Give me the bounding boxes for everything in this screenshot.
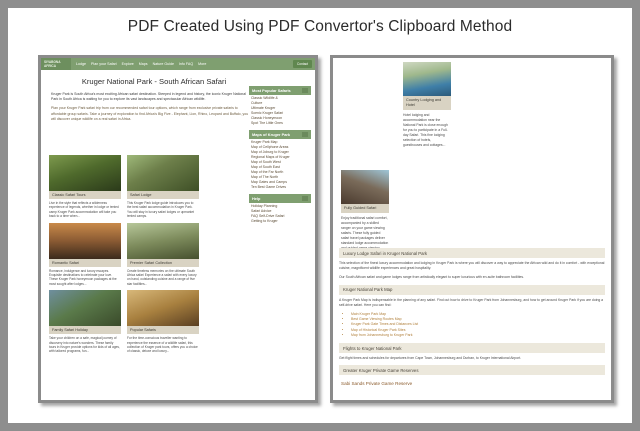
section-paragraph: Our South African safari and game lodges… xyxy=(339,275,605,280)
intro-paragraph-2: Plan your Kruger Park safari trip from o… xyxy=(51,106,251,122)
card-caption: Country Lodging and Hotel xyxy=(403,96,451,110)
left-page-body: Kruger National Park - South African Saf… xyxy=(41,70,315,400)
sidebar-group-header[interactable]: Most Popular Safaris xyxy=(249,86,311,95)
sidebar-group-list: Kruger Park Map Map of Cellphone Areas M… xyxy=(249,139,311,191)
screenshot-canvas: PDF Created Using PDF Convertor's Clipbo… xyxy=(0,0,640,431)
nav-item-lodge[interactable]: Lodge xyxy=(76,62,86,66)
card-caption: Safari Lodge xyxy=(127,191,199,199)
nav-item-more[interactable]: More xyxy=(198,62,206,66)
sidebar-item[interactable]: Ten Best Game Drives xyxy=(249,185,311,190)
section-paragraph: A Kruger Park Map is indispensable in th… xyxy=(339,298,605,308)
card-caption: Popular Safaris xyxy=(127,326,199,334)
card-caption: Romantic Safari xyxy=(49,259,121,267)
intro-paragraph-1: Kruger Park is South Africa's most excit… xyxy=(51,92,251,102)
sidebar-item[interactable]: Spot The Little Ones xyxy=(249,121,311,126)
card-thumbnail xyxy=(49,155,121,191)
card-caption: Family Safari Holiday xyxy=(49,326,121,334)
card-text: Take your children on a safe, magical jo… xyxy=(49,334,121,354)
card-thumbnail xyxy=(341,170,389,204)
nav-contact-button[interactable]: Contact xyxy=(293,60,312,68)
section-header-greater-kruger-private-game-reserves: Greater Kruger Private Game Reserves xyxy=(339,365,605,375)
section-header-kruger-national-park-map: Kruger National Park Map xyxy=(339,285,605,295)
section-header-flights-to-kruger: Flights to Kruger National Park xyxy=(339,343,605,353)
card-text: This Kruger Park lodge guide introduces … xyxy=(127,199,199,219)
section-paragraph: Get flight times and schedules for depar… xyxy=(339,356,605,361)
pdf-page-left: SIYABONA AFRICA Lodge Plan your Safari E… xyxy=(38,55,318,403)
card-text: Live in the style that reflects a wilder… xyxy=(49,199,121,219)
document-title: PDF Created Using PDF Convertor's Clipbo… xyxy=(8,18,632,36)
card-caption: Fully Guided Safari xyxy=(341,204,389,213)
map-links-list: Main Kruger Park Map Best Game Viewing R… xyxy=(351,312,605,338)
card-family-safari-holiday[interactable]: Family Safari Holiday Take your children… xyxy=(49,290,121,354)
section-paragraph: This selection of the finest luxury acco… xyxy=(339,261,605,271)
left-page-sidebar: Most Popular Safaris Classic Wildlife & … xyxy=(249,86,311,227)
map-link-item[interactable]: Map from Johannesburg to Kruger Park xyxy=(351,333,605,338)
sidebar-item[interactable]: Getting to Kruger xyxy=(249,219,311,224)
pdf-page-right: Country Lodging and Hotel Hotel lodging … xyxy=(330,55,614,403)
sidebar-group-title: Maps of Kruger Park xyxy=(252,132,290,137)
card-premier-safari-collection[interactable]: Premier Safari Collection Create timeles… xyxy=(127,223,199,287)
card-text: For the time-conscious traveller wanting… xyxy=(127,334,199,354)
card-thumbnail xyxy=(403,62,451,96)
card-thumbnail xyxy=(49,223,121,259)
nav-item-explore[interactable]: Explore xyxy=(122,62,134,66)
site-navbar: SIYABONA AFRICA Lodge Plan your Safari E… xyxy=(41,58,315,70)
card-popular-safaris[interactable]: Popular Safaris For the time-conscious t… xyxy=(127,290,199,354)
right-page-sections: Luxury Lodge Safari in Kruger National P… xyxy=(339,244,605,386)
sidebar-group-title: Most Popular Safaris xyxy=(252,88,291,93)
sidebar-group-title: Help xyxy=(252,196,260,201)
nav-item-plan-your-safari[interactable]: Plan your Safari xyxy=(91,62,117,66)
sidebar-group-most-popular-safaris: Most Popular Safaris Classic Wildlife & … xyxy=(249,86,311,127)
card-country-lodging-and-hotel[interactable]: Country Lodging and Hotel Hotel lodging … xyxy=(403,62,451,148)
card-thumbnail xyxy=(127,223,199,259)
nav-item-maps[interactable]: Maps xyxy=(139,62,148,66)
sidebar-group-header[interactable]: Maps of Kruger Park xyxy=(249,130,311,139)
sidebar-group-list: Holiday Planning Safari Advice FAQ Self-… xyxy=(249,203,311,224)
card-thumbnail xyxy=(127,290,199,326)
card-text: Create timeless memories on the ultimate… xyxy=(127,267,199,287)
right-page-body: Country Lodging and Hotel Hotel lodging … xyxy=(333,58,611,400)
section-header-luxury-lodge-safari: Luxury Lodge Safari in Kruger National P… xyxy=(339,248,605,258)
collapse-toggle-icon[interactable] xyxy=(302,132,308,137)
card-thumbnail xyxy=(127,155,199,191)
sidebar-group-list: Classic Wildlife & Culture Ultimate Krug… xyxy=(249,95,311,127)
card-caption: Premier Safari Collection xyxy=(127,259,199,267)
card-romantic-safari[interactable]: Romantic Safari Romance, indulgence and … xyxy=(49,223,121,287)
card-fully-guided-safari[interactable]: Fully Guided Safari Enjoy traditional sa… xyxy=(341,170,389,251)
card-classic-safari-tours[interactable]: Classic Safari Tours Live in the style t… xyxy=(49,155,121,219)
nav-items: Lodge Plan your Safari Explore Maps Natu… xyxy=(71,62,293,66)
collapse-toggle-icon[interactable] xyxy=(302,196,308,201)
card-text: Romance, indulgence and luxury escapes. … xyxy=(49,267,121,287)
pdf-page-sheet: PDF Created Using PDF Convertor's Clipbo… xyxy=(8,8,632,423)
nav-item-nature-guide[interactable]: Nature Guide xyxy=(153,62,174,66)
card-safari-lodge[interactable]: Safari Lodge This Kruger Park lodge guid… xyxy=(127,155,199,219)
card-caption: Classic Safari Tours xyxy=(49,191,121,199)
sidebar-group-maps-of-kruger-park: Maps of Kruger Park Kruger Park Map Map … xyxy=(249,130,311,191)
card-thumbnail xyxy=(49,290,121,326)
sidebar-group-header[interactable]: Help xyxy=(249,194,311,203)
safari-cards-grid: Classic Safari Tours Live in the style t… xyxy=(49,155,201,354)
card-text: Hotel lodging and accommodation near the… xyxy=(403,110,451,148)
site-logo[interactable]: SIYABONA AFRICA xyxy=(41,58,71,70)
collapse-toggle-icon[interactable] xyxy=(302,88,308,93)
nav-item-info-faq[interactable]: Info FAQ xyxy=(179,62,193,66)
sidebar-group-help: Help Holiday Planning Safari Advice FAQ … xyxy=(249,194,311,224)
footer-link-sabi-sands[interactable]: Sabi Sands Private Game Reserve xyxy=(339,378,605,386)
